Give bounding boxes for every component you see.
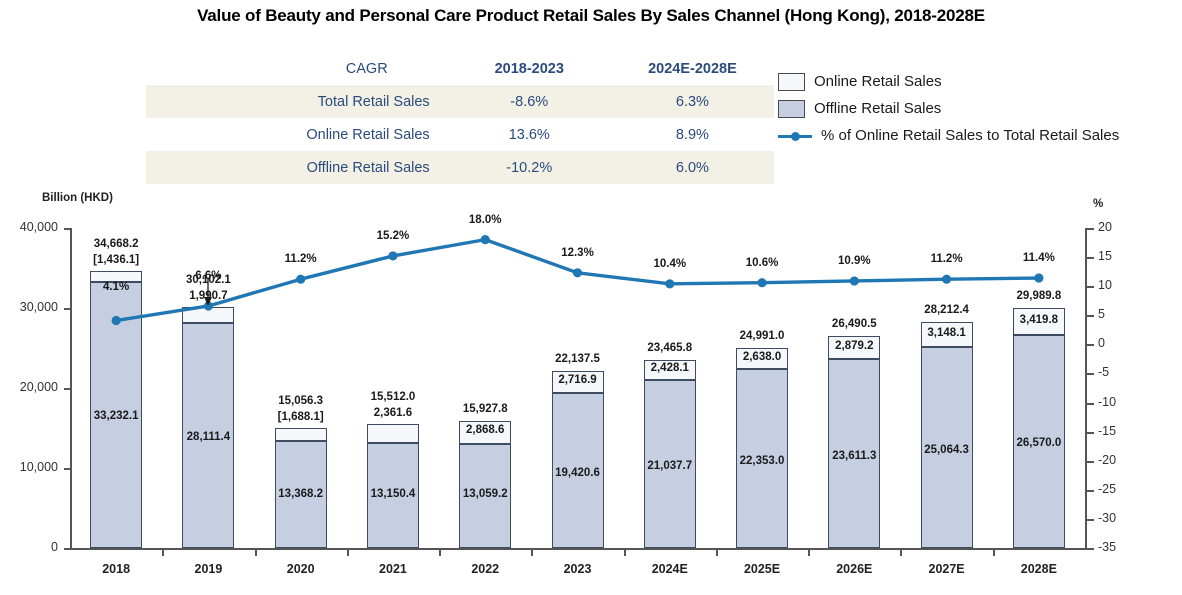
legend-item-online-share: % of Online Retail Sales to Total Retail… [778, 122, 1178, 149]
line-point-label: 10.4% [635, 258, 705, 270]
y-axis-title: Billion (HKD) [42, 192, 113, 204]
bar-segment-online [552, 371, 604, 393]
bar-label-total: 23,465.8 [622, 342, 718, 354]
line-point-label: 4.1% [81, 281, 151, 293]
bar-label-online: 3,419.8 [991, 314, 1087, 326]
line-point-label: 10.9% [819, 255, 889, 267]
bar-segment-offline [182, 323, 234, 548]
bar-segment-online [736, 348, 788, 369]
bar-segment-online [90, 271, 142, 282]
bar-label-online: 1,990.7 [160, 290, 256, 302]
y2-tick-mark [1087, 403, 1094, 405]
bar-label-offline: 19,420.6 [530, 467, 626, 479]
y-tick-mark [64, 228, 71, 230]
x-tick-label: 2025E [717, 562, 807, 576]
bar-label-offline: 13,368.2 [253, 488, 349, 500]
bar-segment-online [275, 428, 327, 442]
bar-segment-offline [459, 444, 511, 548]
bar-label-total: 22,137.5 [530, 353, 626, 365]
y-tick-mark [64, 308, 71, 310]
x-tick-label: 2023 [533, 562, 623, 576]
bar-label-total: 34,668.2 [68, 238, 164, 250]
y2-tick-label: -20 [1098, 453, 1144, 467]
bar-label-total: 26,490.5 [806, 318, 902, 330]
bar-segment-offline [644, 380, 696, 548]
callout-arrow-2019-icon [193, 274, 223, 314]
bar-label-offline: 13,150.4 [345, 488, 441, 500]
bar-label-offline: 28,111.4 [160, 431, 256, 443]
cagr-online-2024-2028: 8.9% [611, 118, 774, 151]
y2-tick-mark [1087, 344, 1094, 346]
page-title: Value of Beauty and Personal Care Produc… [0, 6, 1182, 26]
bar-label-online: 2,716.9 [530, 374, 626, 386]
legend-swatch-offline-icon [778, 100, 805, 118]
bar-label-online: 2,868.6 [437, 424, 533, 436]
line-point-label: 11.2% [912, 253, 982, 265]
line-point-label: 12.3% [543, 247, 613, 259]
bar-segment-offline [736, 369, 788, 548]
y-tick-label: 40,000 [0, 220, 58, 234]
x-tick-mark [900, 550, 902, 556]
bar-segment-offline [367, 443, 419, 548]
x-tick-label: 2019 [163, 562, 253, 576]
bar-label-offline: 21,037.7 [622, 460, 718, 472]
legend-item-offline: Offline Retail Sales [778, 95, 1178, 122]
y2-tick-label: 0 [1098, 336, 1144, 350]
legend-item-online: Online Retail Sales [778, 68, 1178, 95]
y2-tick-mark [1087, 461, 1094, 463]
y2-tick-mark [1087, 432, 1094, 434]
bar-segment-online [459, 421, 511, 444]
y2-tick-label: 15 [1098, 249, 1144, 263]
bar-label-online: 2,879.2 [806, 340, 902, 352]
bar-label-offline: 23,611.3 [806, 450, 902, 462]
y2-tick-label: -15 [1098, 424, 1144, 438]
cagr-offline-2024-2028: 6.0% [611, 151, 774, 184]
legend-label-online: Online Retail Sales [814, 73, 942, 90]
cagr-table: CAGR 2018-2023 2024E-2028E Total Retail … [146, 52, 774, 184]
bar-label-total: 15,056.3 [253, 395, 349, 407]
table-row: Offline Retail Sales -10.2% 6.0% [146, 151, 774, 184]
bar-label-offline: 33,232.1 [68, 410, 164, 422]
y-tick-label: 30,000 [0, 300, 58, 314]
x-tick-mark [531, 550, 533, 556]
bar-label-total: 15,927.8 [437, 403, 533, 415]
x-tick-mark [347, 550, 349, 556]
y2-tick-mark [1087, 228, 1094, 230]
bar-label-online: [1,436.1] [68, 254, 164, 266]
x-tick-label: 2022 [440, 562, 530, 576]
bar-segment-offline [552, 393, 604, 548]
y2-tick-mark [1087, 519, 1094, 521]
bar-label-offline: 13,059.2 [437, 488, 533, 500]
x-tick-label: 2018 [71, 562, 161, 576]
cagr-row-label-online: Online Retail Sales [146, 118, 448, 151]
cagr-table-header-row: CAGR 2018-2023 2024E-2028E [146, 52, 774, 85]
legend-swatch-online-icon [778, 73, 805, 91]
y2-tick-label: 5 [1098, 307, 1144, 321]
cagr-header-label: CAGR [146, 52, 448, 85]
x-tick-mark [716, 550, 718, 556]
y2-axis-title: % [1093, 198, 1103, 210]
y2-tick-label: -30 [1098, 511, 1144, 525]
bar-segment-online [644, 360, 696, 379]
bar-label-total: 24,991.0 [714, 330, 810, 342]
bar-segment-online [921, 322, 973, 347]
cagr-total-2018-2023: -8.6% [448, 85, 611, 118]
y2-tick-label: 10 [1098, 278, 1144, 292]
y-tick-mark [64, 388, 71, 390]
x-axis-line [70, 548, 1087, 550]
cagr-header-period-1: 2018-2023 [448, 52, 611, 85]
y2-tick-mark [1087, 548, 1094, 550]
bar-segment-offline [921, 347, 973, 548]
bar-segment-online [182, 307, 234, 323]
bar-label-offline: 25,064.3 [899, 444, 995, 456]
legend-label-online-share: % of Online Retail Sales to Total Retail… [821, 127, 1119, 144]
line-point-label: 15.2% [358, 230, 428, 242]
y2-tick-label: 20 [1098, 220, 1144, 234]
bar-segment-offline [90, 282, 142, 548]
x-tick-label: 2020 [256, 562, 346, 576]
y2-tick-label: -25 [1098, 482, 1144, 496]
y2-tick-label: -35 [1098, 540, 1144, 554]
y-axis-line [70, 228, 72, 550]
cagr-total-2024-2028: 6.3% [611, 85, 774, 118]
legend-label-offline: Offline Retail Sales [814, 100, 941, 117]
bar-label-total: 30,102.1 [160, 274, 256, 286]
table-row: Total Retail Sales -8.6% 6.3% [146, 85, 774, 118]
bar-label-total: 29,989.8 [991, 290, 1087, 302]
y2-tick-mark [1087, 257, 1094, 259]
x-tick-mark [255, 550, 257, 556]
bar-label-total: 28,212.4 [899, 304, 995, 316]
y-tick-label: 0 [0, 540, 58, 554]
cagr-offline-2018-2023: -10.2% [448, 151, 611, 184]
line-point-label: 6.6% [173, 270, 243, 282]
bar-segment-offline [275, 441, 327, 548]
line-point-label: 10.6% [727, 257, 797, 269]
y2-tick-label: -5 [1098, 365, 1144, 379]
bar-segment-offline [828, 359, 880, 548]
y2-tick-mark [1087, 286, 1094, 288]
x-tick-label: 2021 [348, 562, 438, 576]
bar-label-online: 2,361.6 [345, 407, 441, 419]
x-tick-mark [439, 550, 441, 556]
chart-legend: Online Retail Sales Offline Retail Sales… [778, 68, 1178, 149]
y-tick-mark [64, 468, 71, 470]
y2-tick-mark [1087, 315, 1094, 317]
x-tick-label: 2026E [809, 562, 899, 576]
cagr-row-label-offline: Offline Retail Sales [146, 151, 448, 184]
y2-tick-label: -10 [1098, 395, 1144, 409]
line-point-label: 11.4% [1004, 252, 1074, 264]
x-tick-label: 2028E [994, 562, 1084, 576]
x-tick-label: 2027E [902, 562, 992, 576]
bar-label-online: 2,428.1 [622, 362, 718, 374]
bar-label-offline: 26,570.0 [991, 437, 1087, 449]
x-tick-mark [808, 550, 810, 556]
bar-label-total: 15,512.0 [345, 391, 441, 403]
cagr-online-2018-2023: 13.6% [448, 118, 611, 151]
y2-tick-mark [1087, 373, 1094, 375]
bar-label-online: 3,148.1 [899, 327, 995, 339]
bar-segment-online [367, 424, 419, 443]
bar-label-online: 2,638.0 [714, 351, 810, 363]
y-tick-label: 10,000 [0, 460, 58, 474]
table-row: Online Retail Sales 13.6% 8.9% [146, 118, 774, 151]
x-tick-mark [993, 550, 995, 556]
cagr-header-period-2: 2024E-2028E [611, 52, 774, 85]
x-tick-label: 2024E [625, 562, 715, 576]
y2-axis-line [1085, 228, 1087, 550]
bar-label-online: [1,688.1] [253, 411, 349, 423]
bar-segment-offline [1013, 335, 1065, 548]
x-tick-mark [162, 550, 164, 556]
y-tick-label: 20,000 [0, 380, 58, 394]
cagr-row-label-total: Total Retail Sales [146, 85, 448, 118]
x-tick-mark [624, 550, 626, 556]
bar-label-offline: 22,353.0 [714, 455, 810, 467]
bar-segment-online [828, 336, 880, 359]
legend-line-marker-icon [778, 128, 812, 144]
line-point-label: 11.2% [266, 253, 336, 265]
y-tick-mark [64, 548, 71, 550]
bar-segment-online [1013, 308, 1065, 335]
y2-tick-mark [1087, 490, 1094, 492]
line-point-label: 18.0% [450, 214, 520, 226]
